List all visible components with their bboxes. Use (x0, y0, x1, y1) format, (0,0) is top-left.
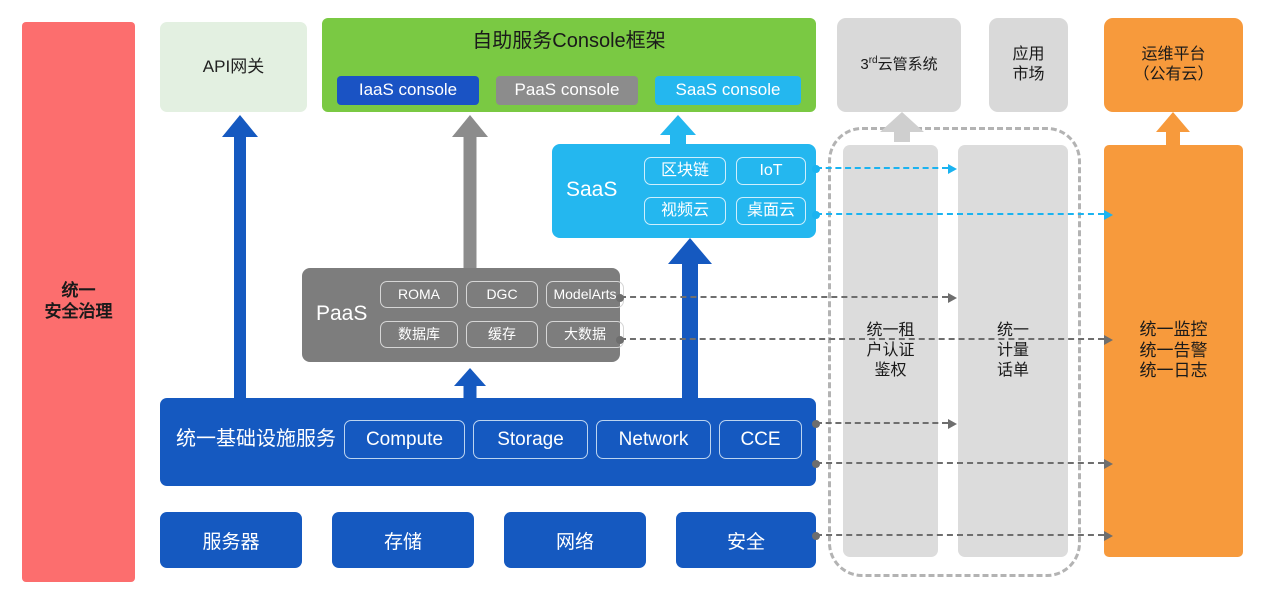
app-market-box: 应用市场 (989, 18, 1068, 112)
infra-chip-storage[interactable]: Storage (473, 420, 588, 459)
resource-box-security[interactable]: 安全 (676, 512, 816, 568)
dashed-link-paas-to-tenant-auth (620, 296, 948, 298)
ops-platform-label: 运维平台（公有云） (1133, 45, 1213, 84)
architecture-diagram: 统一安全治理 API网关 自助服务Console框架 IaaS console … (0, 0, 1265, 605)
paas-chip-roma[interactable]: ROMA (380, 281, 458, 308)
paas-console-chip[interactable]: PaaS console (496, 76, 638, 105)
dashed-link-saas-to-monitoring (816, 213, 1104, 215)
third-party-cloud-mgmt-label: 3rd云管系统 (860, 55, 937, 74)
monitoring-panel-label: 统一监控统一告警统一日志 (1140, 320, 1208, 382)
arrow-shared-to-third-party (880, 112, 924, 142)
app-market-label: 应用市场 (1012, 45, 1044, 84)
metering-billing-column: 统一计量话单 (958, 145, 1068, 557)
unified-infrastructure-bar: 统一基础设施服务 Compute Storage Network CCE (160, 398, 816, 486)
dashed-link-resources-to-monitoring (816, 534, 1104, 536)
paas-chip-cache[interactable]: 缓存 (466, 321, 538, 348)
infra-chip-network[interactable]: Network (596, 420, 711, 459)
arrow-paas-to-console (452, 115, 488, 268)
monitoring-panel-box: 统一监控统一告警统一日志 (1104, 145, 1243, 557)
tenant-auth-label: 统一租户认证鉴权 (866, 321, 914, 381)
api-gateway-box: API网关 (160, 22, 307, 112)
saas-chip-blockchain[interactable]: 区块链 (644, 157, 726, 185)
paas-chip-modelarts[interactable]: ModelArts (546, 281, 624, 308)
iaas-console-chip[interactable]: IaaS console (337, 76, 479, 105)
saas-label: SaaS (566, 177, 617, 203)
saas-block: SaaS 区块链 IoT 视频云 桌面云 (552, 144, 816, 238)
saas-chip-desktop-cloud[interactable]: 桌面云 (736, 197, 806, 225)
dashed-link-paas-to-monitoring (620, 338, 1104, 340)
infra-chip-cce[interactable]: CCE (719, 420, 802, 459)
resource-box-storage[interactable]: 存储 (332, 512, 474, 568)
arrow-monitoring-to-ops-platform (1155, 112, 1191, 148)
security-governance-panel: 统一安全治理 (22, 22, 135, 582)
resource-box-server[interactable]: 服务器 (160, 512, 302, 568)
metering-billing-label: 统一计量话单 (997, 321, 1029, 381)
paas-block: PaaS ROMA DGC ModelArts 数据库 缓存 大数据 (302, 268, 620, 362)
dashed-link-infra-to-monitoring (816, 462, 1104, 464)
security-governance-label: 统一安全治理 (45, 281, 113, 322)
console-framework-title: 自助服务Console框架 (322, 29, 816, 53)
api-gateway-label: API网关 (203, 57, 264, 78)
console-framework-box: 自助服务Console框架 IaaS console PaaS console … (322, 18, 816, 112)
infra-chip-compute[interactable]: Compute (344, 420, 465, 459)
arrow-saas-to-console (660, 115, 696, 144)
paas-chip-bigdata[interactable]: 大数据 (546, 321, 624, 348)
saas-chip-video-cloud[interactable]: 视频云 (644, 197, 726, 225)
paas-chip-database[interactable]: 数据库 (380, 321, 458, 348)
tenant-auth-column: 统一租户认证鉴权 (843, 145, 938, 557)
saas-console-chip[interactable]: SaaS console (655, 76, 801, 105)
paas-label: PaaS (316, 301, 367, 327)
arrow-infra-to-api-gateway (222, 115, 258, 398)
third-party-cloud-mgmt-box: 3rd云管系统 (837, 18, 961, 112)
dashed-link-saas-to-tenant-auth (816, 167, 948, 169)
ops-platform-box: 运维平台（公有云） (1104, 18, 1243, 112)
paas-chip-dgc[interactable]: DGC (466, 281, 538, 308)
arrow-infra-to-paas (452, 368, 488, 398)
dashed-link-infra-to-tenant-auth (816, 422, 948, 424)
arrow-infra-to-saas (668, 238, 712, 398)
unified-infrastructure-label: 统一基础设施服务 (176, 427, 336, 451)
saas-chip-iot[interactable]: IoT (736, 157, 806, 185)
resource-box-network[interactable]: 网络 (504, 512, 646, 568)
